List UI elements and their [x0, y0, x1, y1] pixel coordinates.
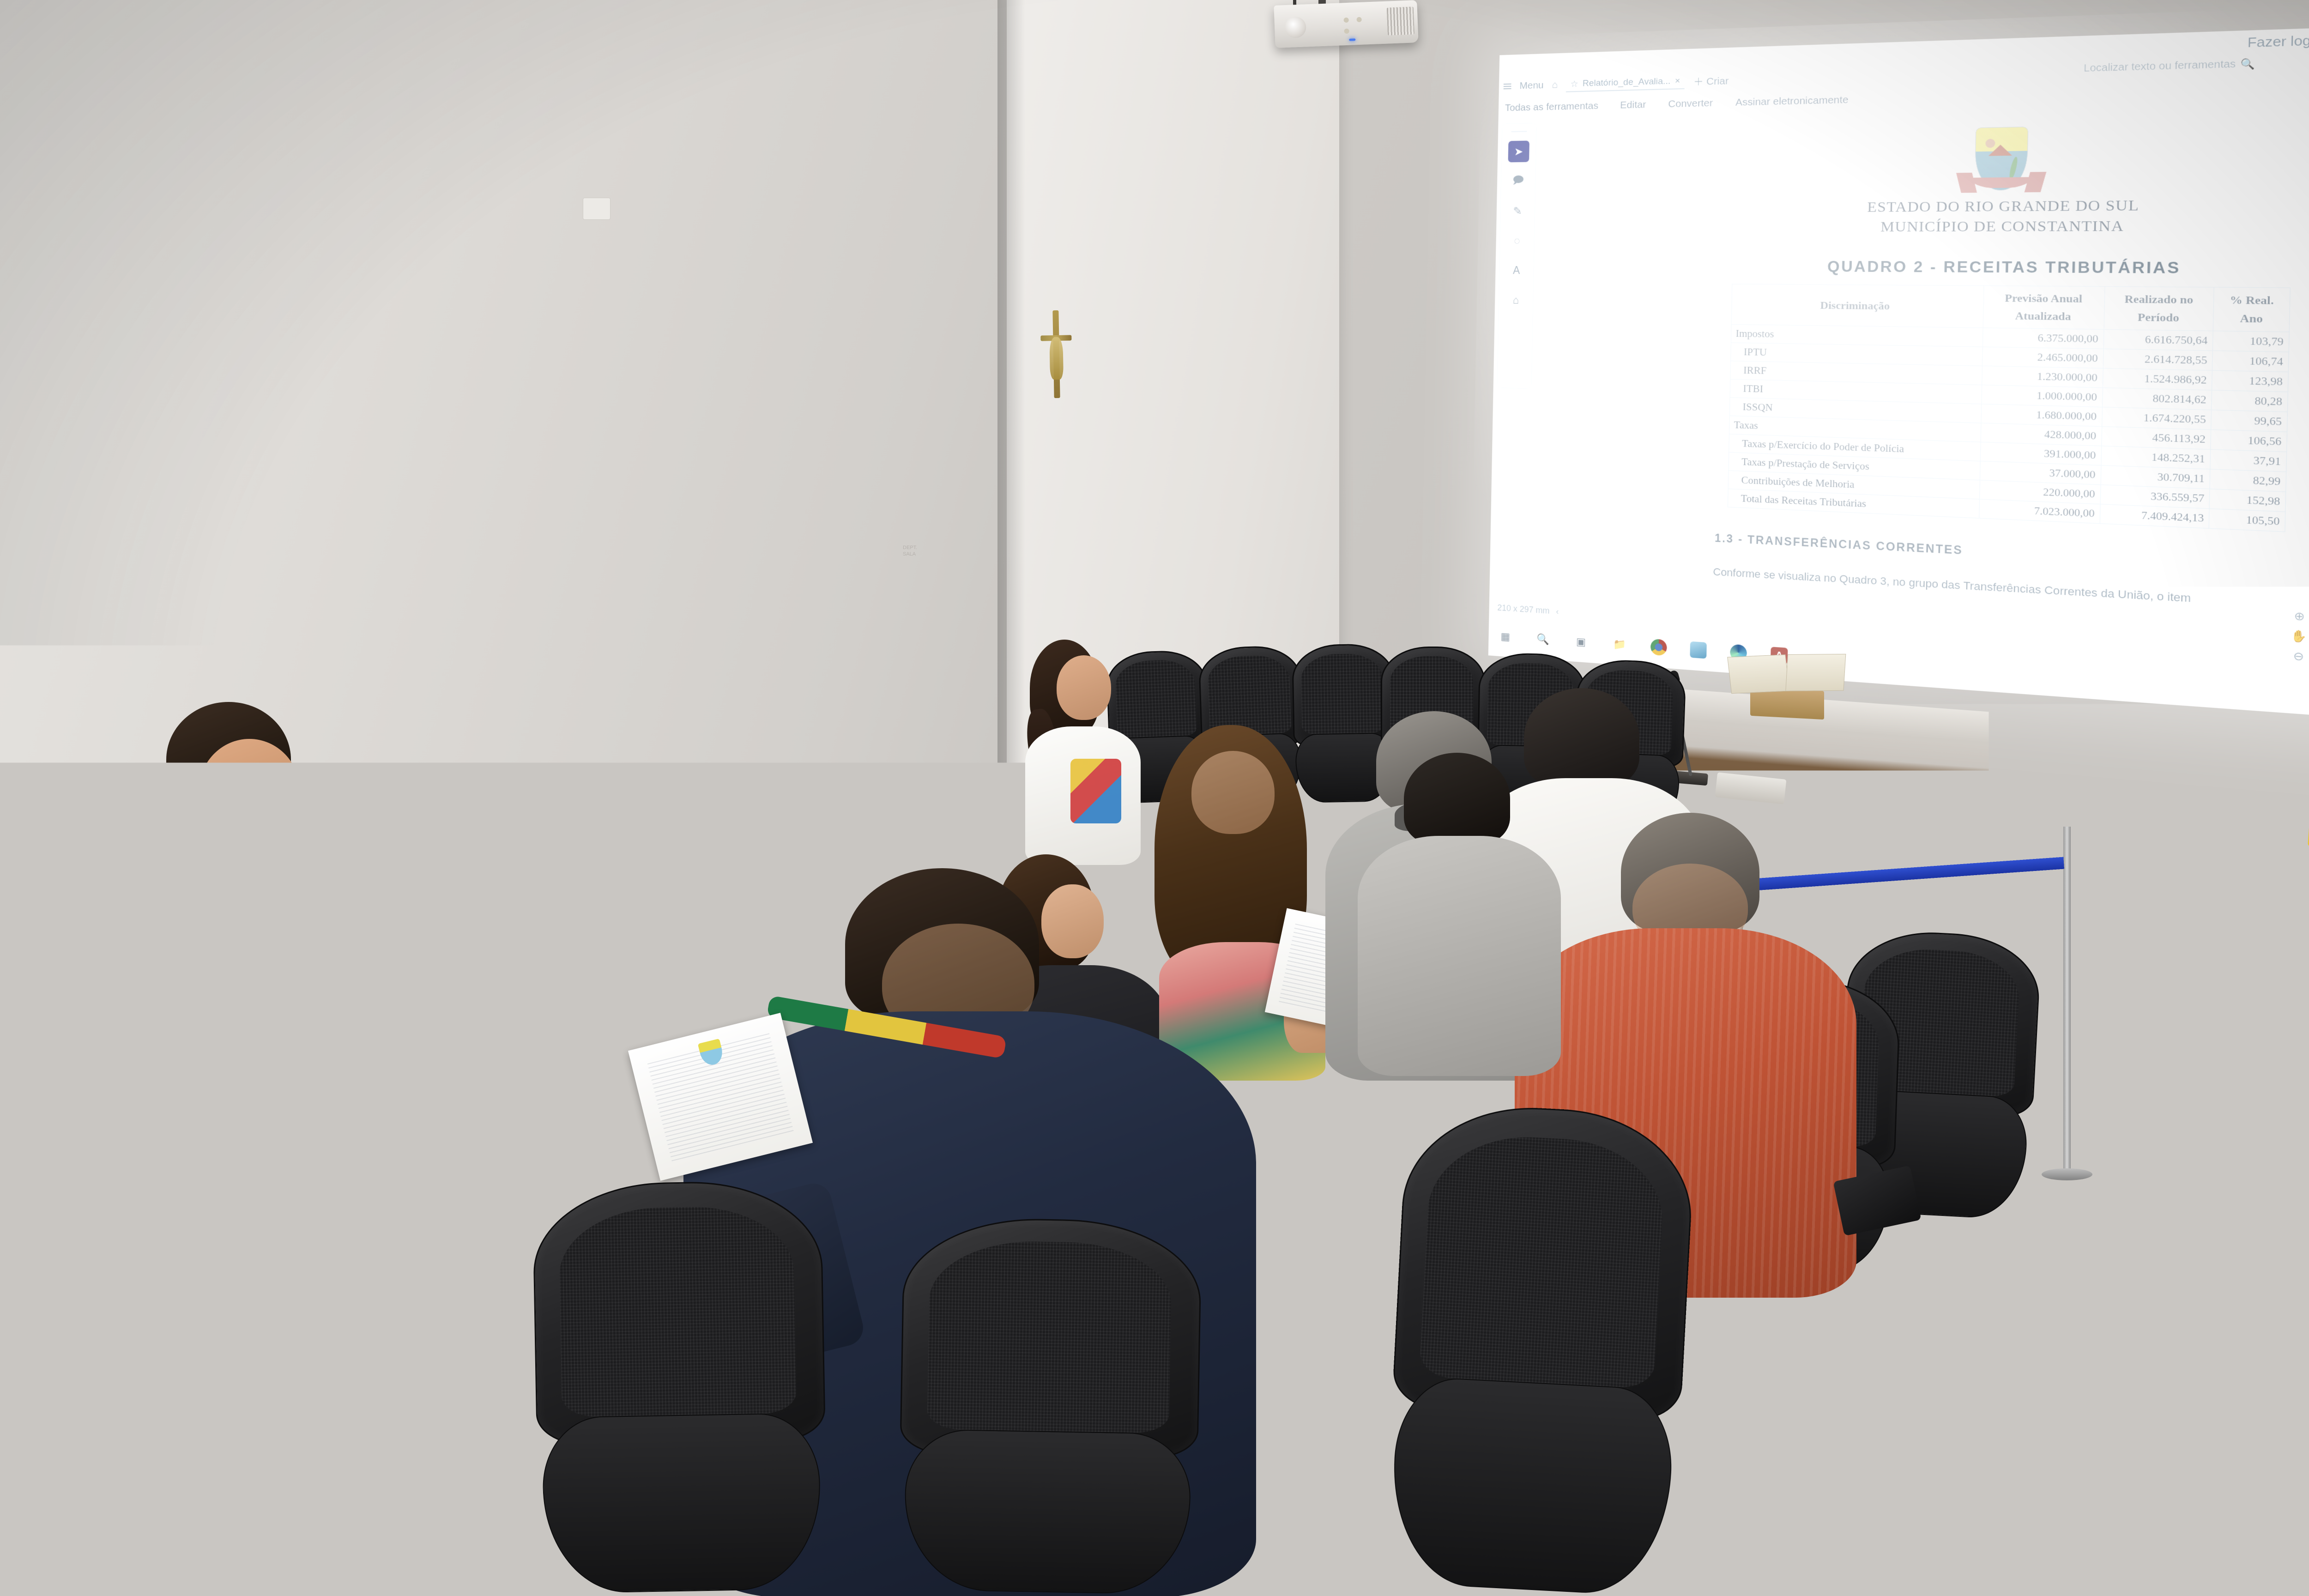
cell-previsao: 6.375.000,00: [1983, 327, 2104, 349]
cell-previsao: 2.465.000,00: [1982, 347, 2103, 368]
stanchion-post-1: [2063, 827, 2071, 1178]
person-attendee-red-shirt: Banrisul: [106, 702, 346, 1071]
tool-convert[interactable]: Converter: [1668, 97, 1713, 110]
projector-vent: [1387, 6, 1414, 35]
hair: [1404, 753, 1510, 845]
pen-icon[interactable]: ✎: [1507, 200, 1528, 221]
document-tab[interactable]: ☆ Relatório_de_Avalia... ×: [1566, 74, 1685, 92]
hamburger-icon[interactable]: [1504, 84, 1511, 89]
torso: [106, 831, 337, 1071]
search-icon[interactable]: 🔍: [1533, 629, 1553, 650]
cell-percentual: 99,65: [2211, 410, 2287, 432]
zoom-controls: ⊕ ✋ ⊖: [2291, 609, 2308, 664]
zoom-in-icon[interactable]: ⊕: [2294, 609, 2305, 623]
windows-logo-icon[interactable]: ▦: [1496, 626, 1515, 647]
wall-outlet: [583, 198, 610, 220]
projector-led: [1349, 38, 1355, 41]
cell-percentual: 103,79: [2213, 331, 2290, 352]
mail-icon[interactable]: [1688, 639, 1709, 660]
tool-edit[interactable]: Editar: [1620, 99, 1646, 111]
col-realizado: Realizado noPeríodo: [2104, 287, 2214, 331]
org-line-1: ESTADO DO RIO GRANDE DO SUL: [1699, 194, 2309, 218]
cell-previsao: 1.000.000,00: [1981, 385, 2103, 407]
crucifix-icon: [1037, 310, 1075, 398]
stanchion-base-1: [2042, 1168, 2092, 1180]
chair[interactable]: [196, 1120, 497, 1596]
cell-realizado: 456.113,92: [2101, 426, 2211, 449]
cell-realizado: 802.814,62: [2102, 387, 2212, 410]
create-button[interactable]: ＋ Criar: [1693, 73, 1729, 88]
ceiling-projector: [1274, 0, 1418, 48]
signin-link[interactable]: Fazer logon: [2247, 32, 2309, 51]
cell-percentual: 80,28: [2212, 390, 2288, 411]
cell-percentual: 82,99: [2210, 469, 2286, 491]
folder-icon[interactable]: 📁: [1609, 634, 1630, 655]
tool-all-tools[interactable]: Todas as ferramentas: [1505, 100, 1599, 114]
wall-outlet-right: [2249, 733, 2273, 755]
page-size-label: 210 x 297 mm: [1497, 603, 1550, 616]
cell-realizado: 6.616.750,64: [2103, 329, 2213, 351]
cell-percentual: 123,98: [2212, 370, 2288, 392]
cell-percentual: 106,74: [2212, 351, 2289, 372]
chair[interactable]: [897, 1216, 1199, 1596]
shirt-logo-text: Banrisul: [148, 898, 253, 934]
chrome-icon[interactable]: [1649, 637, 1669, 658]
table-header-row: Discriminação Previsão AnualAtualizada R…: [1731, 284, 2291, 332]
brasao-constantina-icon: [1960, 127, 2042, 191]
cell-realizado: 7.409.424,13: [2100, 504, 2210, 528]
conference-room-photo: DEPT.SALA Fazer logon — ▫ ✕: [0, 0, 2309, 1596]
cell-realizado: 2.614.728,55: [2103, 349, 2213, 370]
text-box-icon[interactable]: A: [1506, 260, 1527, 281]
receitas-tributarias-table: Discriminação Previsão AnualAtualizada R…: [1728, 284, 2291, 532]
table-body: Impostos6.375.000,006.616.750,64103,79IP…: [1728, 324, 2289, 532]
star-icon: ☆: [1570, 79, 1578, 90]
backpack: [9, 1330, 249, 1561]
quadro-title: QUADRO 2 - RECEITAS TRIBUTÁRIAS: [1698, 258, 2309, 278]
projected-desktop: Fazer logon — ▫ ✕ Menu ⌂ ☆ Relatório_de_…: [1488, 25, 2309, 719]
cell-percentual: 37,91: [2210, 449, 2286, 472]
tool-esign[interactable]: Assinar eletronicamente: [1735, 94, 1849, 109]
chair[interactable]: [532, 1180, 826, 1596]
chair[interactable]: [1232, 966, 1465, 1324]
col-percentual: % Real.Ano: [2213, 287, 2291, 332]
select-cursor-icon[interactable]: ➤: [1508, 141, 1529, 163]
cell-percentual: 106,56: [2211, 429, 2287, 452]
head: [199, 739, 300, 845]
cell-realizado: 1.524.986,92: [2103, 368, 2212, 390]
task-view-icon[interactable]: ▣: [1571, 631, 1591, 653]
col-discriminacao: Discriminação: [1731, 284, 1984, 327]
acrobat-left-toolbar: ➤ 🗩 ✎ ◌ A ⌂: [1497, 123, 1537, 389]
section-paragraph: Conforme se visualiza no Quadro 3, no gr…: [1713, 563, 2300, 613]
projection-screen: Fazer logon — ▫ ✕ Menu ⌂ ☆ Relatório_de_…: [1488, 25, 2309, 719]
menu-button[interactable]: Menu: [1519, 80, 1544, 92]
cell-percentual: 152,98: [2210, 489, 2286, 512]
org-line-2: MUNICÍPIO DE CONSTANTINA: [1698, 215, 2309, 236]
wall-label: DEPT.SALA: [903, 545, 931, 558]
page-prev-icon[interactable]: ‹: [1556, 606, 1559, 617]
document-org-header: ESTADO DO RIO GRANDE DO SUL MUNICÍPIO DE…: [1698, 194, 2309, 237]
stamp-icon[interactable]: ⌂: [1505, 289, 1526, 311]
head: [1191, 751, 1275, 834]
pdf-page: ESTADO DO RIO GRANDE DO SUL MUNICÍPIO DE…: [1691, 107, 2309, 653]
col-previsao: Previsão AnualAtualizada: [1983, 286, 2105, 329]
shirt-graphic: [1070, 759, 1121, 823]
comment-icon[interactable]: 🗩: [1507, 170, 1529, 192]
tab-close-icon[interactable]: ×: [1675, 76, 1680, 86]
highlight-icon[interactable]: ◌: [1506, 230, 1528, 251]
hand-icon[interactable]: ✋: [2291, 629, 2308, 644]
tab-label: Relatório_de_Avalia...: [1583, 76, 1671, 89]
projector-lens: [1284, 16, 1306, 38]
home-icon[interactable]: ⌂: [1552, 79, 1558, 91]
cell-percentual: 105,50: [2209, 508, 2285, 532]
rail-divider: [1511, 131, 1527, 133]
ribbon-icon: [1958, 172, 2044, 194]
search-icon[interactable]: 🔍: [2240, 57, 2255, 71]
zoom-out-icon[interactable]: ⊖: [2293, 649, 2304, 664]
head: [1057, 655, 1111, 720]
open-book: [1729, 653, 1845, 701]
cell-previsao: 1.230.000,00: [1982, 366, 2103, 387]
cell-realizado: 1.674.220,55: [2102, 407, 2212, 429]
person-presenter: [1016, 640, 1150, 861]
